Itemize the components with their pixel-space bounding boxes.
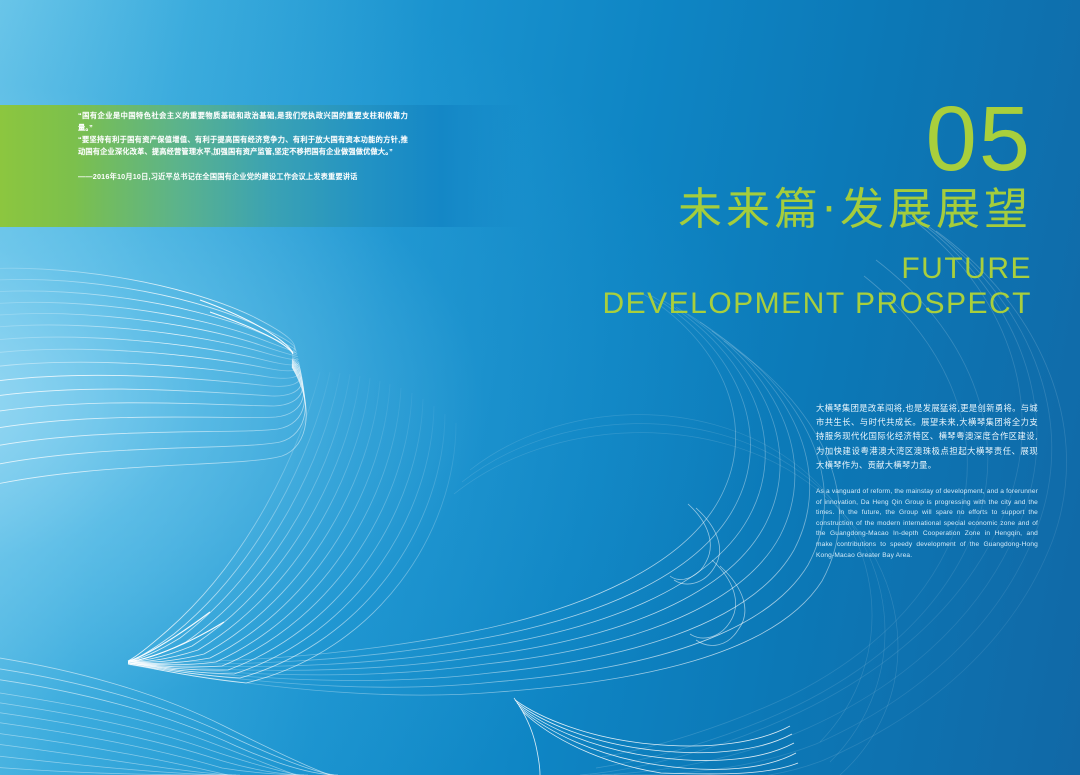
page-root: “国有企业是中国特色社会主义的重要物质基础和政治基础,是我们党执政兴国的重要支柱… [0,0,1080,775]
quote-block: “国有企业是中国特色社会主义的重要物质基础和政治基础,是我们党执政兴国的重要支柱… [78,110,408,190]
headline-block: 05 未来篇·发展展望 FUTURE DEVELOPMENT PROSPECT [392,96,1032,322]
quote-source: ——2016年10月10日,习近平总书记在全国国有企业党的建设工作会议上发表重要… [78,171,408,183]
section-title-english: FUTURE DEVELOPMENT PROSPECT [392,252,1032,322]
quote-paragraph-1: “国有企业是中国特色社会主义的重要物质基础和政治基础,是我们党执政兴国的重要支柱… [78,110,408,133]
section-title-english-line1: FUTURE [392,252,1032,286]
body-copy-block: 大横琴集团是改革闯将,也是发展猛将,更是创新勇将。与城市共生长、与时代共成长。展… [816,401,1038,568]
body-copy-english: As a vanguard of reform, the mainstay of… [816,487,1038,561]
section-title-chinese: 未来篇·发展展望 [392,184,1032,236]
body-copy-chinese: 大横琴集团是改革闯将,也是发展猛将,更是创新勇将。与城市共生长、与时代共成长。展… [816,401,1038,472]
section-title-english-line2: DEVELOPMENT PROSPECT [392,286,1032,322]
section-number: 05 [392,96,1032,182]
quote-paragraph-2: “要坚持有利于国有资产保值增值、有利于提高国有经济竞争力、有利于放大国有资本功能… [78,134,408,157]
